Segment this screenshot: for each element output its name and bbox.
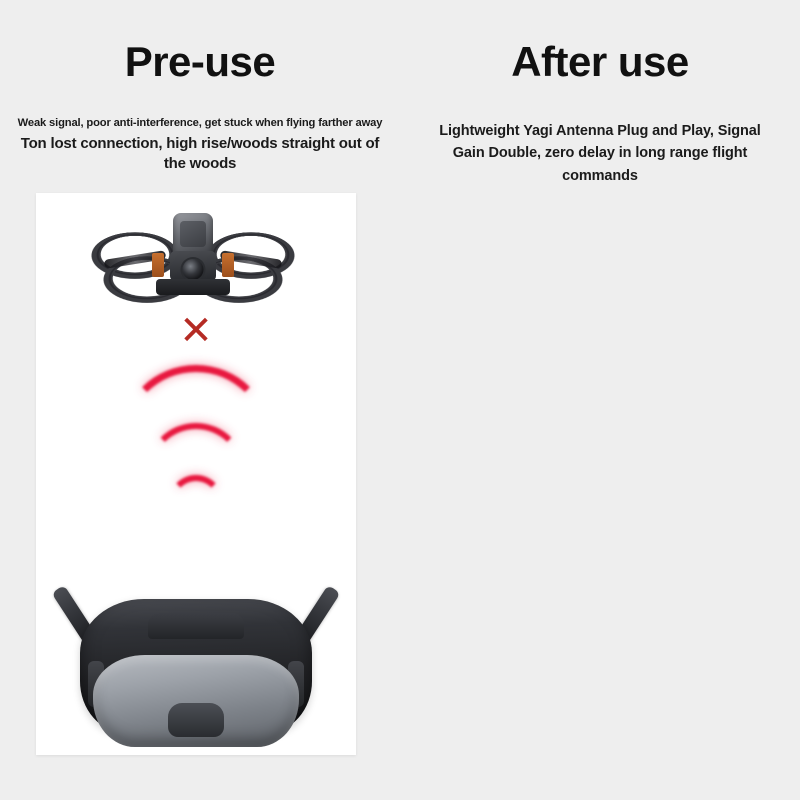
after-use-column: After use Lightweight Yagi Antenna Plug … bbox=[400, 0, 800, 800]
pre-use-heading: Pre-use bbox=[0, 40, 400, 84]
fpv-goggles-pre-use bbox=[66, 577, 326, 737]
pre-use-column: Pre-use Weak signal, poor anti-interfere… bbox=[0, 0, 400, 800]
drone-accent-left bbox=[152, 253, 164, 277]
after-use-heading: After use bbox=[400, 40, 800, 84]
weak-signal-arcs bbox=[36, 365, 356, 545]
pre-use-subtitle-large: Ton lost connection, high rise/woods str… bbox=[0, 134, 400, 175]
drone-camera-lens bbox=[183, 259, 204, 280]
drone-accent-right bbox=[222, 253, 234, 277]
x-mark-icon: ✕ bbox=[36, 311, 356, 351]
comparison-infographic: Pre-use Weak signal, poor anti-interfere… bbox=[0, 0, 800, 800]
goggles-nose-guard bbox=[168, 703, 224, 737]
goggles-shell bbox=[80, 599, 312, 733]
drone-battery bbox=[156, 279, 230, 295]
after-use-subtitle: Lightweight Yagi Antenna Plug and Play, … bbox=[400, 120, 800, 187]
drone-illustration-pre-use bbox=[88, 207, 298, 307]
pre-use-photo-panel: ✕ bbox=[36, 193, 356, 755]
pre-use-subtitle-small: Weak signal, poor anti-interference, get… bbox=[0, 116, 400, 130]
signal-arc-3 bbox=[168, 475, 224, 533]
goggles-top-module bbox=[148, 613, 244, 639]
